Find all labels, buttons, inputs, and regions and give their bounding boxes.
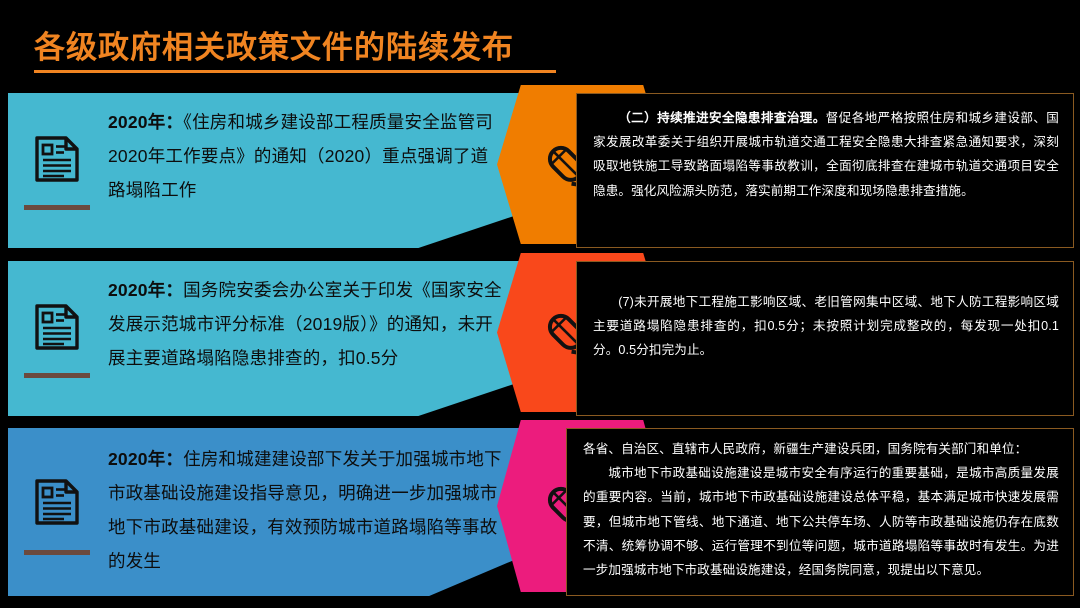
- policy-left-panel: 2020年：住房和城建建设部下发关于加强城市地下市政基础设施建设指导意见，明确进…: [8, 428, 548, 596]
- policy-right-text: (7)未开展地下工程施工影响区域、老旧管网集中区域、地下人防工程影响区域主要道路…: [593, 290, 1059, 363]
- accent-rule: [24, 205, 90, 210]
- policy-year: 2020年：: [108, 280, 183, 300]
- policy-right-panel: （二）持续推进安全隐患排查治理。督促各地严格按照住房和城乡建设部、国家发展改革委…: [576, 93, 1074, 248]
- policy-row: 2020年：《住房和城乡建设部工程质量安全监管司2020年工作要点》的通知（20…: [0, 93, 1080, 248]
- accent-rule: [24, 373, 90, 378]
- policy-right-heading: （二）持续推进安全隐患排查治理。: [618, 111, 826, 125]
- policy-right-panel: 各省、自治区、直辖市人民政府，新疆生产建设兵团，国务院有关部门和单位： 城市地下…: [566, 428, 1074, 596]
- document-icon: [34, 135, 80, 183]
- policy-row: 2020年：国务院安委会办公室关于印发《国家安全发展示范城市评分标准（2019版…: [0, 261, 1080, 416]
- policy-left-text: 2020年：国务院安委会办公室关于印发《国家安全发展示范城市评分标准（2019版…: [108, 273, 502, 375]
- title-underline: [34, 70, 556, 73]
- policy-left-text: 2020年：《住房和城乡建设部工程质量安全监管司2020年工作要点》的通知（20…: [108, 105, 502, 207]
- policy-right-body: 城市地下市政基础设施建设是城市安全有序运行的重要基础，是城市高质量发展的重要内容…: [583, 461, 1059, 582]
- document-icon: [34, 478, 80, 526]
- policy-left-panel: 2020年：《住房和城乡建设部工程质量安全监管司2020年工作要点》的通知（20…: [8, 93, 548, 248]
- page-title: 各级政府相关政策文件的陆续发布: [34, 22, 514, 67]
- policy-year: 2020年：: [108, 112, 183, 132]
- policy-right-addressee: 各省、自治区、直辖市人民政府，新疆生产建设兵团，国务院有关部门和单位：: [583, 437, 1059, 461]
- document-icon: [34, 303, 80, 351]
- policy-right-panel: (7)未开展地下工程施工影响区域、老旧管网集中区域、地下人防工程影响区域主要道路…: [576, 261, 1074, 416]
- accent-rule: [24, 550, 90, 555]
- policy-year: 2020年：: [108, 449, 183, 469]
- policy-right-text: 各省、自治区、直辖市人民政府，新疆生产建设兵团，国务院有关部门和单位： 城市地下…: [583, 437, 1059, 582]
- policy-left-text: 2020年：住房和城建建设部下发关于加强城市地下市政基础设施建设指导意见，明确进…: [108, 442, 502, 579]
- policy-right-text: （二）持续推进安全隐患排查治理。督促各地严格按照住房和城乡建设部、国家发展改革委…: [593, 106, 1059, 203]
- policy-right-body: (7)未开展地下工程施工影响区域、老旧管网集中区域、地下人防工程影响区域主要道路…: [593, 295, 1059, 357]
- policy-left-panel: 2020年：国务院安委会办公室关于印发《国家安全发展示范城市评分标准（2019版…: [8, 261, 548, 416]
- policy-row: 2020年：住房和城建建设部下发关于加强城市地下市政基础设施建设指导意见，明确进…: [0, 428, 1080, 596]
